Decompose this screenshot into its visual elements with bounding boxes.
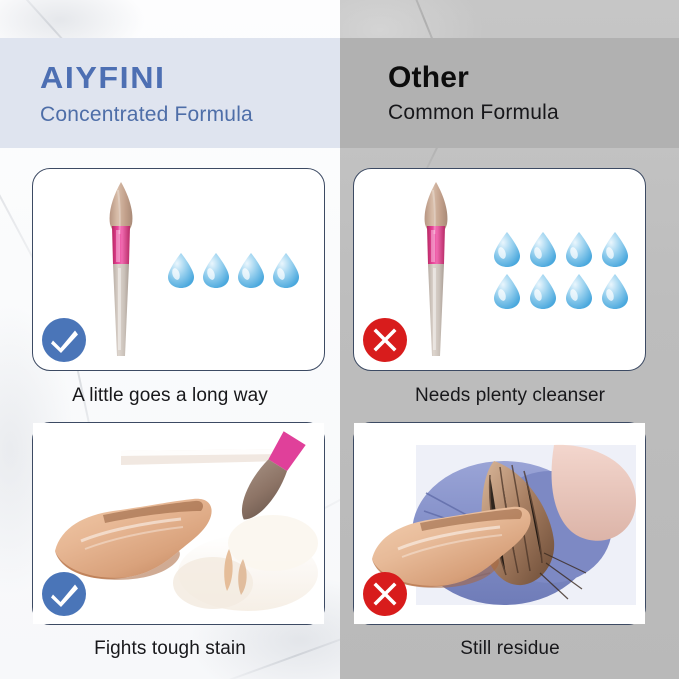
water-droplet-icon — [600, 231, 630, 268]
comparison-infographic: AIYFINI Concentrated Formula Other Commo… — [0, 0, 679, 679]
caption-top-right: Needs plenty cleanser — [340, 386, 679, 405]
water-droplet-icon — [492, 273, 522, 310]
caption-bottom-right: Still residue — [340, 639, 679, 658]
makeup-brush-icon — [98, 180, 144, 358]
water-droplet-icon — [564, 231, 594, 268]
header-band: AIYFINI Concentrated Formula Other Commo… — [0, 38, 679, 148]
droplet-group-left — [166, 252, 301, 289]
water-droplet-icon — [236, 252, 266, 289]
right-header: Other Common Formula — [340, 38, 679, 148]
left-tagline: Concentrated Formula — [40, 104, 340, 125]
makeup-brush-icon — [413, 180, 459, 358]
water-droplet-icon — [166, 252, 196, 289]
right-title: Other — [388, 63, 679, 93]
cross-icon — [363, 318, 407, 362]
brand-logo: AIYFINI — [40, 62, 352, 93]
left-header: AIYFINI Concentrated Formula — [0, 38, 340, 148]
water-droplet-icon — [201, 252, 231, 289]
water-droplet-icon — [600, 273, 630, 310]
water-droplet-icon — [528, 273, 558, 310]
water-droplet-icon — [564, 273, 594, 310]
water-droplet-icon — [528, 231, 558, 268]
water-droplet-icon — [492, 231, 522, 268]
water-droplet-icon — [271, 252, 301, 289]
caption-top-left: A little goes a long way — [0, 386, 340, 405]
caption-bottom-left: Fights tough stain — [0, 639, 340, 658]
check-icon — [42, 318, 86, 362]
cross-icon — [363, 572, 407, 616]
check-icon — [42, 572, 86, 616]
droplet-group-right — [492, 231, 630, 311]
right-tagline: Common Formula — [388, 102, 679, 123]
